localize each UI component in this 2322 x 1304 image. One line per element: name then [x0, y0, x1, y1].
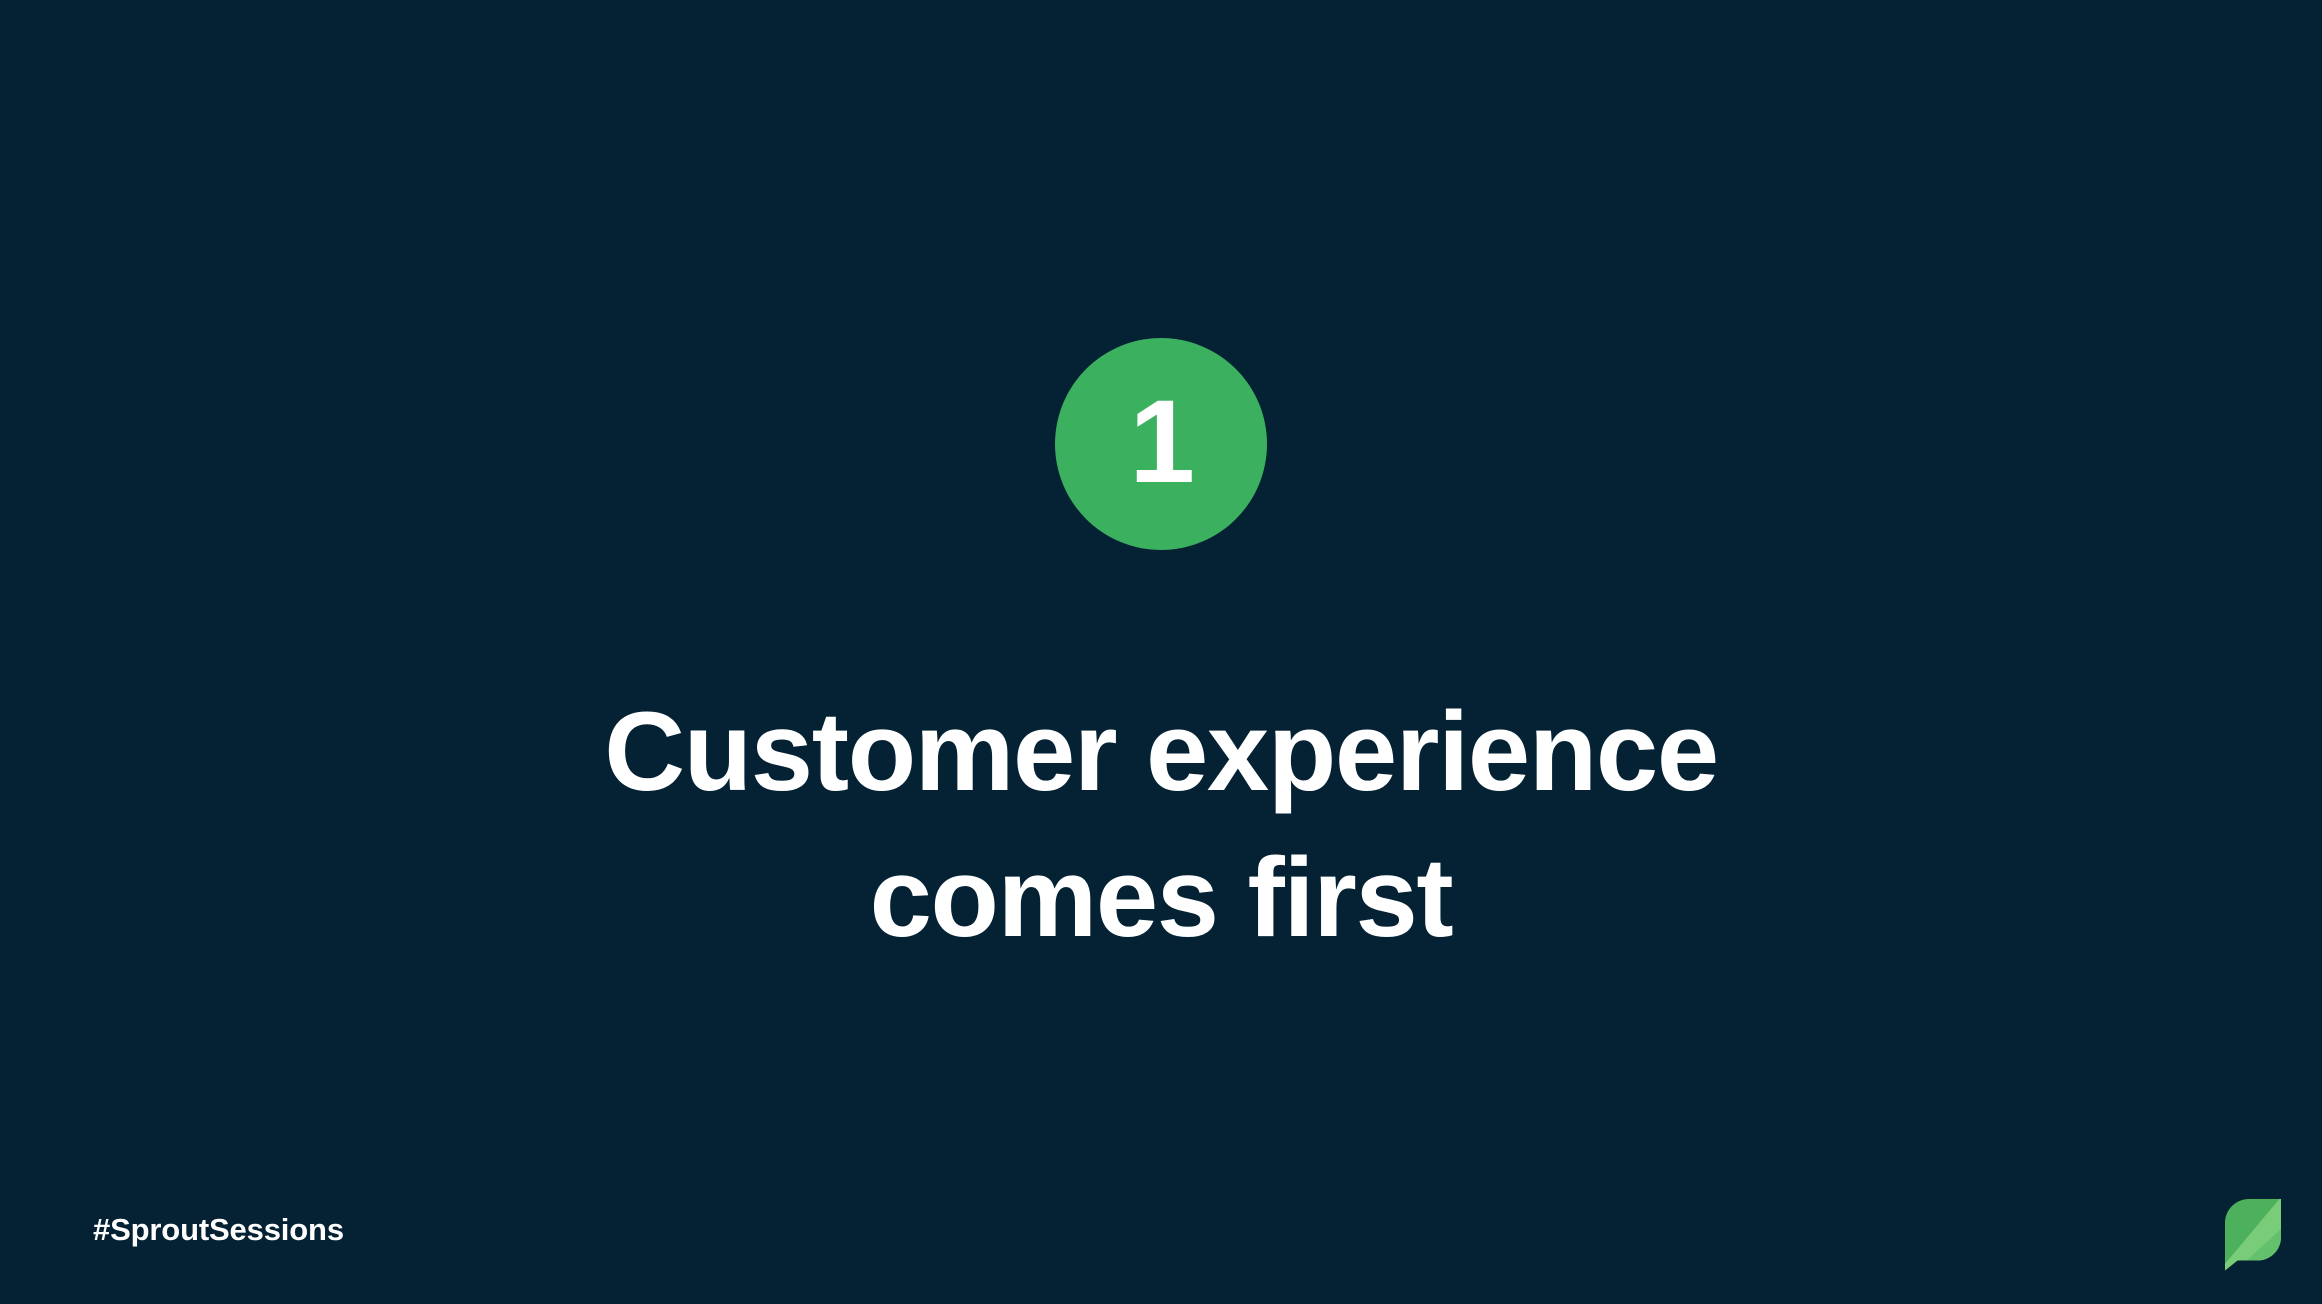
step-badge-container: 1 — [0, 338, 2322, 550]
slide-canvas: 1 Customer experience comes first #Sprou… — [0, 0, 2322, 1304]
event-hashtag: #SproutSessions — [93, 1214, 344, 1245]
slide-headline: Customer experience comes first — [411, 679, 1911, 970]
step-number-badge: 1 — [1055, 338, 1267, 550]
sprout-leaf-logo — [2219, 1197, 2281, 1271]
step-number-label: 1 — [1129, 383, 1192, 501]
